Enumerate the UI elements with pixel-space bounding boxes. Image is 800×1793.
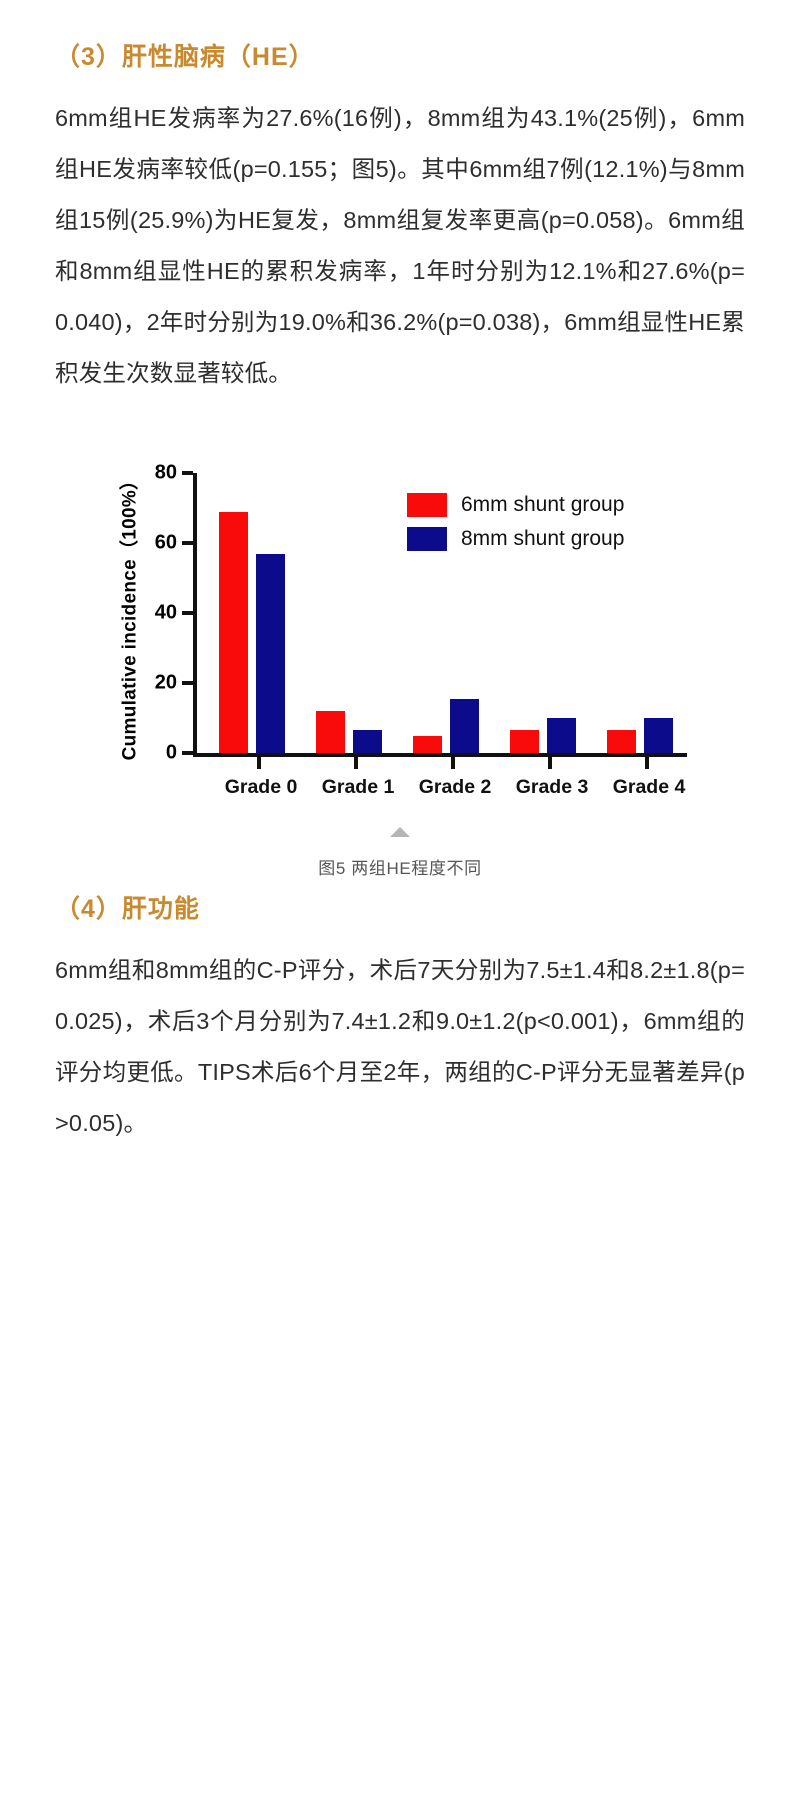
chart-y-tick-80: 80 bbox=[182, 471, 193, 475]
chart-legend-item-8mm: 8mm shunt group bbox=[407, 527, 624, 551]
chart-bar-6mm-grade-2 bbox=[413, 736, 442, 754]
chart-x-tick-4 bbox=[645, 756, 649, 769]
chart-x-tick-0 bbox=[257, 756, 261, 769]
chart-legend-item-6mm: 6mm shunt group bbox=[407, 493, 624, 517]
chart-bar-8mm-grade-2 bbox=[450, 699, 479, 753]
chart-legend-label-8mm: 8mm shunt group bbox=[461, 527, 624, 551]
chart-y-tick-60: 60 bbox=[182, 541, 193, 545]
section-paragraph-liver-function: 6mm组和8mm组的C-P评分，术后7天分别为7.5±1.4和8.2±1.8(p… bbox=[55, 927, 745, 1149]
chart-y-tick-label-40: 40 bbox=[155, 601, 177, 624]
section-heading-he: （3）肝性脑病（HE） bbox=[55, 0, 745, 75]
chart-group-grade-1: Grade 1 bbox=[312, 473, 404, 753]
chart-x-tick-1 bbox=[354, 756, 358, 769]
chart-legend-label-6mm: 6mm shunt group bbox=[461, 493, 624, 517]
triangle-up-icon bbox=[390, 827, 410, 837]
chart-group-grade-0: Grade 0 bbox=[215, 473, 307, 753]
chart-bar-8mm-grade-1 bbox=[353, 730, 382, 753]
chart-bar-6mm-grade-1 bbox=[316, 711, 345, 753]
chart-bar-8mm-grade-4 bbox=[644, 718, 673, 753]
chart-x-tick-2 bbox=[451, 756, 455, 769]
chart-y-tick-label-20: 20 bbox=[155, 671, 177, 694]
chart-x-label-grade-3: Grade 3 bbox=[516, 776, 589, 799]
chart-y-tick-label-80: 80 bbox=[155, 461, 177, 484]
chart-x-label-grade-2: Grade 2 bbox=[419, 776, 492, 799]
chart-bar-8mm-grade-3 bbox=[547, 718, 576, 753]
chart-y-tick-label-60: 60 bbox=[155, 531, 177, 554]
chart-y-tick-label-0: 0 bbox=[166, 741, 177, 764]
section-paragraph-he: 6mm组HE发病率为27.6%(16例)，8mm组为43.1%(25例)，6mm… bbox=[55, 75, 745, 399]
chart-y-tick-0: 0 bbox=[182, 751, 193, 755]
chart-x-label-grade-1: Grade 1 bbox=[322, 776, 395, 799]
section-heading-liver-function: （4）肝功能 bbox=[55, 879, 745, 927]
chart-bar-8mm-grade-0 bbox=[256, 554, 285, 754]
chart-y-axis-title: Cumulative incidence（100%） bbox=[113, 465, 143, 765]
chart-y-tick-20: 20 bbox=[182, 681, 193, 685]
article-page: （3）肝性脑病（HE） 6mm组HE发病率为27.6%(16例)，8mm组为43… bbox=[0, 0, 800, 1793]
chart-x-tick-3 bbox=[548, 756, 552, 769]
chart-bar-6mm-grade-4 bbox=[607, 730, 636, 753]
chart-x-label-grade-4: Grade 4 bbox=[613, 776, 686, 799]
chart-legend-swatch-8mm bbox=[407, 527, 447, 551]
chart-x-label-grade-0: Grade 0 bbox=[225, 776, 298, 799]
figure-5: Cumulative incidence（100%） 80 60 40 20 bbox=[55, 465, 745, 879]
chart-legend-swatch-6mm bbox=[407, 493, 447, 517]
chart-y-axis-title-text: Cumulative incidence（100%） bbox=[115, 470, 142, 760]
bar-chart: Cumulative incidence（100%） 80 60 40 20 bbox=[107, 465, 693, 805]
chart-y-tick-40: 40 bbox=[182, 611, 193, 615]
chart-bar-6mm-grade-3 bbox=[510, 730, 539, 753]
figure-caption: 图5 两组HE程度不同 bbox=[55, 854, 745, 879]
chart-x-axis-line bbox=[193, 753, 687, 757]
chart-legend: 6mm shunt group 8mm shunt group bbox=[407, 493, 624, 561]
chart-bar-6mm-grade-0 bbox=[219, 512, 248, 754]
